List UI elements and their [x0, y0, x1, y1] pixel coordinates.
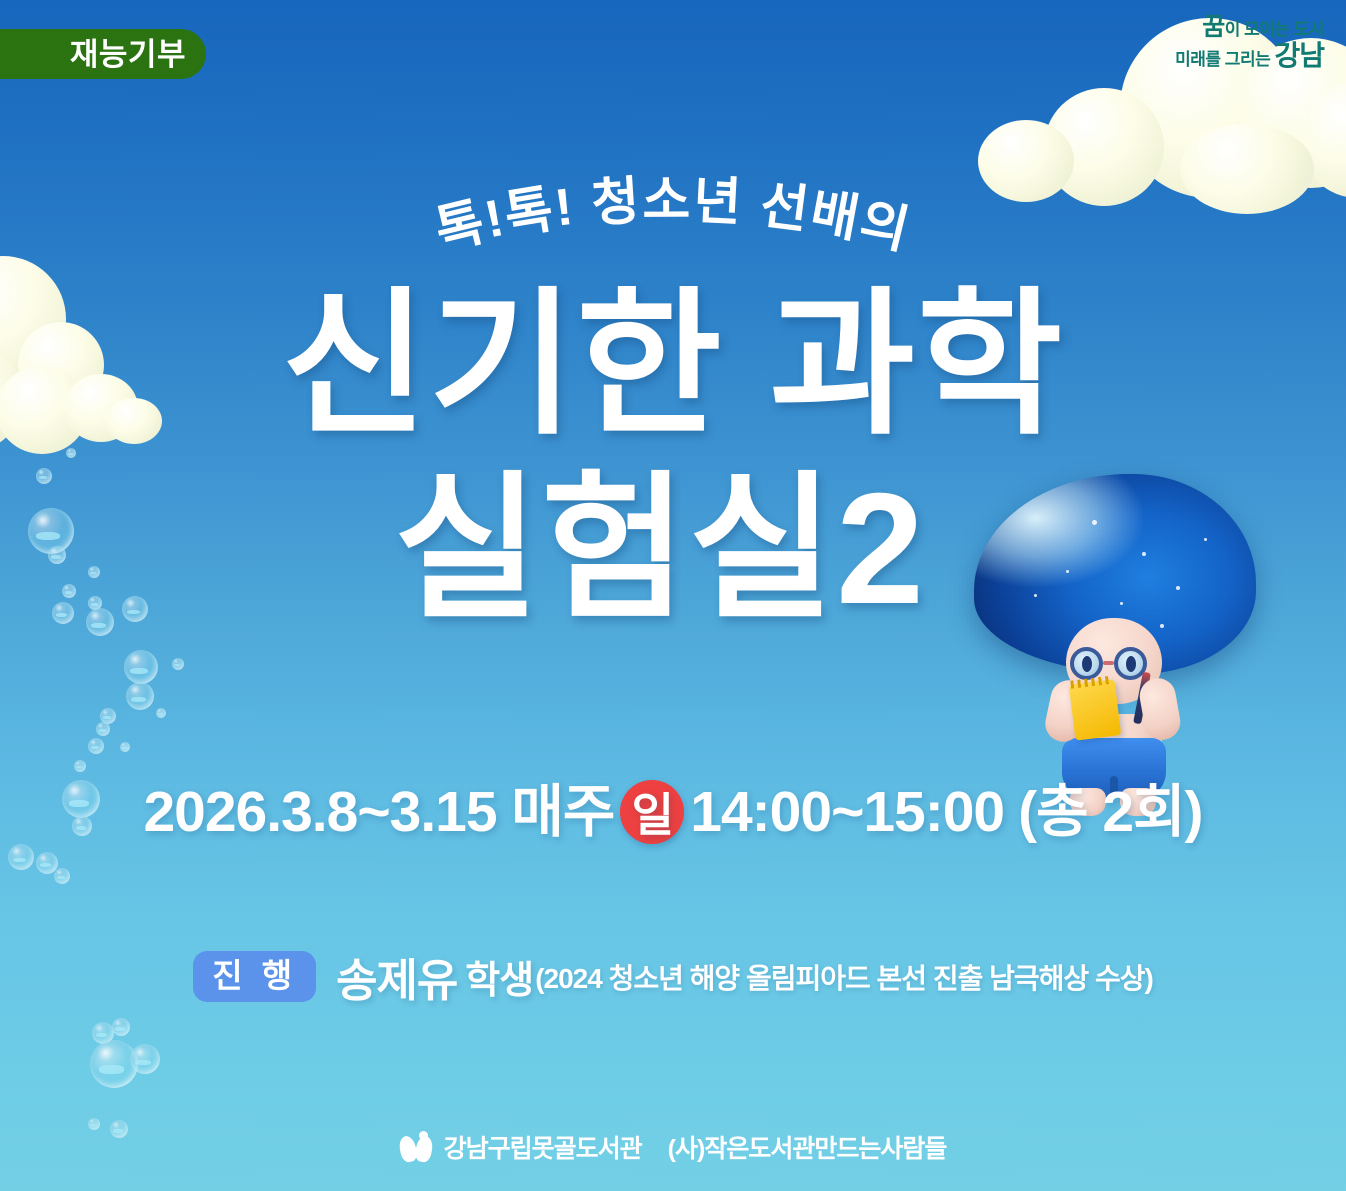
library-logo-icon [400, 1132, 434, 1162]
cloud-puff [978, 120, 1074, 202]
gangnam-logo-brand: 강남 [1274, 40, 1324, 71]
bubble [66, 448, 76, 458]
bubble [130, 1044, 160, 1074]
bubble [126, 682, 154, 710]
gangnam-logo: 꿈이 모이는 도시 미래를 그리는 강남 [1114, 14, 1324, 71]
gangnam-logo-line2-rest: 미래를 그리는 [1175, 50, 1270, 69]
bubble [124, 650, 158, 684]
bubble [8, 844, 34, 870]
gangnam-logo-line1: 꿈이 모이는 도시 [1114, 14, 1324, 41]
schedule-weekday-badge: 일 [620, 780, 684, 844]
gangnam-logo-dream: 꿈 [1202, 13, 1225, 41]
talent-donation-label: 재능기부 [70, 39, 186, 70]
gangnam-logo-line2: 미래를 그리는 강남 [1114, 41, 1324, 71]
schedule-line: 2026.3.8~3.15 매주 일 14:00~15:00 (총 2회) [0, 780, 1346, 844]
presenter-role: 학생 [465, 949, 533, 1004]
presenter-name: 송제유 [336, 944, 457, 1009]
cloud-puff [1180, 124, 1314, 214]
subtitle-textpath: 톡!톡! 청소년 선배의 [430, 172, 916, 261]
bubble [112, 1018, 130, 1036]
glasses-bridge [1103, 661, 1114, 665]
talent-donation-badge: 재능기부 [0, 29, 206, 79]
presenter-line: 진 행 송제유 학생 (2024 청소년 해양 올림피아드 본선 진출 남극해상… [0, 944, 1346, 1009]
schedule-sessions: (총 2회) [1018, 784, 1202, 841]
bubble [156, 708, 166, 718]
bubble [74, 760, 86, 772]
notepad-icon [1069, 679, 1121, 740]
bubble [172, 658, 184, 670]
presenter-note: (2024 청소년 해양 올림피아드 본선 진출 남극해상 수상) [535, 957, 1153, 997]
bubble [96, 722, 110, 736]
character-eye-right [1126, 656, 1136, 672]
science-kid-character [962, 466, 1262, 806]
footer-cohost: (사)작은도서관만드는사람들 [668, 1129, 947, 1165]
title-line-1: 신기한 과학 [0, 286, 1346, 444]
presenter-badge: 진 행 [193, 951, 316, 1001]
footer-organizer: 강남구립못골도서관 [444, 1129, 642, 1165]
bubble [88, 738, 104, 754]
character-eye-left [1082, 656, 1092, 672]
poster-canvas: 재능기부 꿈이 모이는 도시 미래를 그리는 강남 톡!톡! 청소년 선배의 신… [0, 0, 1346, 1191]
bubble [120, 742, 130, 752]
subtitle-text: 톡!톡! 청소년 선배의 [430, 172, 916, 261]
bubble [54, 868, 70, 884]
schedule-time-range: 14:00~15:00 [690, 784, 1004, 841]
gangnam-logo-line1-rest: 이 모이는 도시 [1225, 20, 1324, 39]
footer: 강남구립못골도서관 (사)작은도서관만드는사람들 [0, 1129, 1346, 1165]
schedule-date-range: 2026.3.8~3.15 매주 [143, 784, 614, 841]
